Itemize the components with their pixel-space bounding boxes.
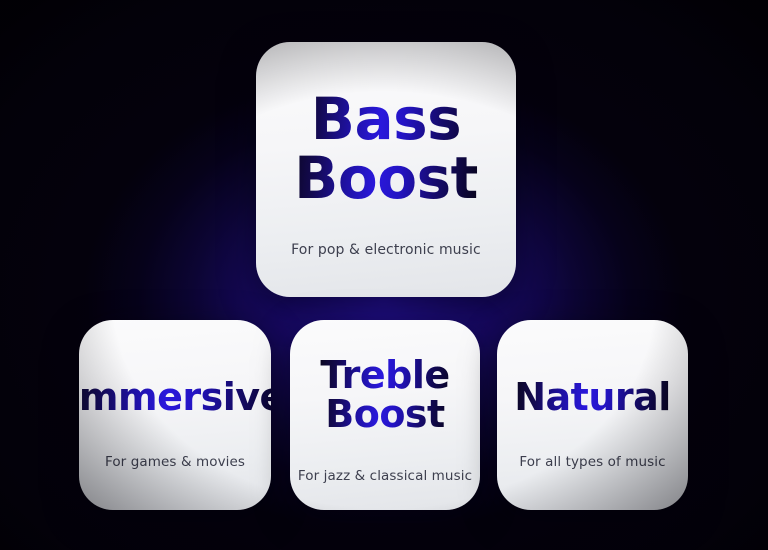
preset-title-line: Treble	[320, 356, 449, 395]
preset-card-immersive[interactable]: Immersive For games & movies	[79, 320, 271, 510]
preset-title-treble-boost: Treble Boost	[320, 356, 449, 434]
preset-title-line: Natural	[514, 378, 671, 417]
preset-title-line: Boost	[294, 149, 478, 208]
preset-card-treble-boost[interactable]: Treble Boost For jazz & classical music	[290, 320, 480, 510]
preset-title-line: Immersive	[79, 378, 271, 417]
preset-subtitle-treble-boost: For jazz & classical music	[298, 468, 472, 484]
preset-title-bass-boost: Bass Boost	[294, 90, 478, 208]
preset-title-immersive: Immersive	[79, 378, 271, 417]
preset-title-line: Bass	[294, 90, 478, 149]
preset-title-line: Boost	[320, 395, 449, 434]
preset-subtitle-immersive: For games & movies	[105, 454, 245, 470]
preset-selection-screen: Bass Boost For pop & electronic music Im…	[0, 0, 768, 550]
preset-card-bass-boost[interactable]: Bass Boost For pop & electronic music	[256, 42, 516, 297]
preset-subtitle-natural: For all types of music	[519, 454, 665, 470]
preset-subtitle-bass-boost: For pop & electronic music	[291, 242, 481, 259]
preset-title-natural: Natural	[514, 378, 671, 417]
preset-card-natural[interactable]: Natural For all types of music	[497, 320, 688, 510]
